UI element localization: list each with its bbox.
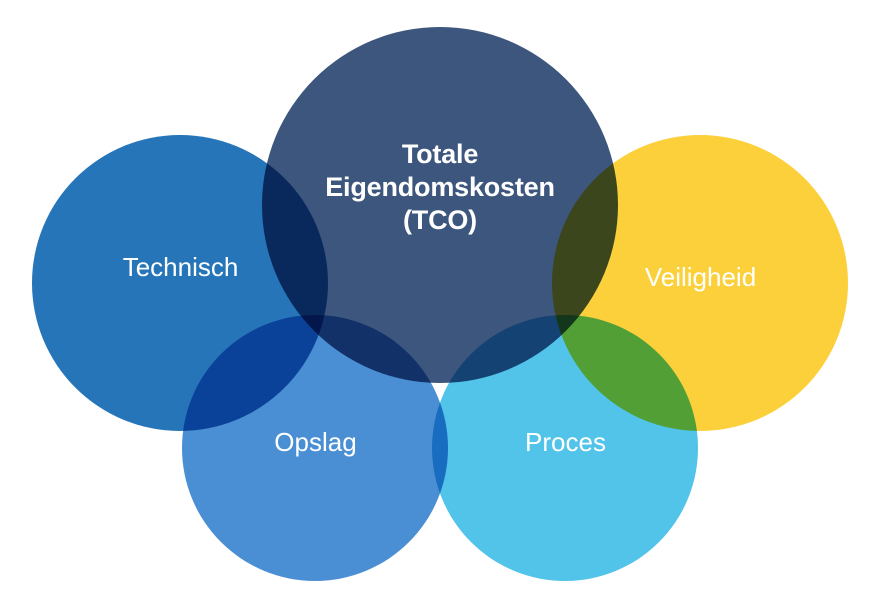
- venn-circles-canvas: [0, 0, 881, 604]
- venn-diagram: Totale Eigendomskosten (TCO) Technisch V…: [0, 0, 881, 604]
- circle-tco[interactable]: [262, 27, 618, 383]
- venn-circle-group: [32, 27, 848, 581]
